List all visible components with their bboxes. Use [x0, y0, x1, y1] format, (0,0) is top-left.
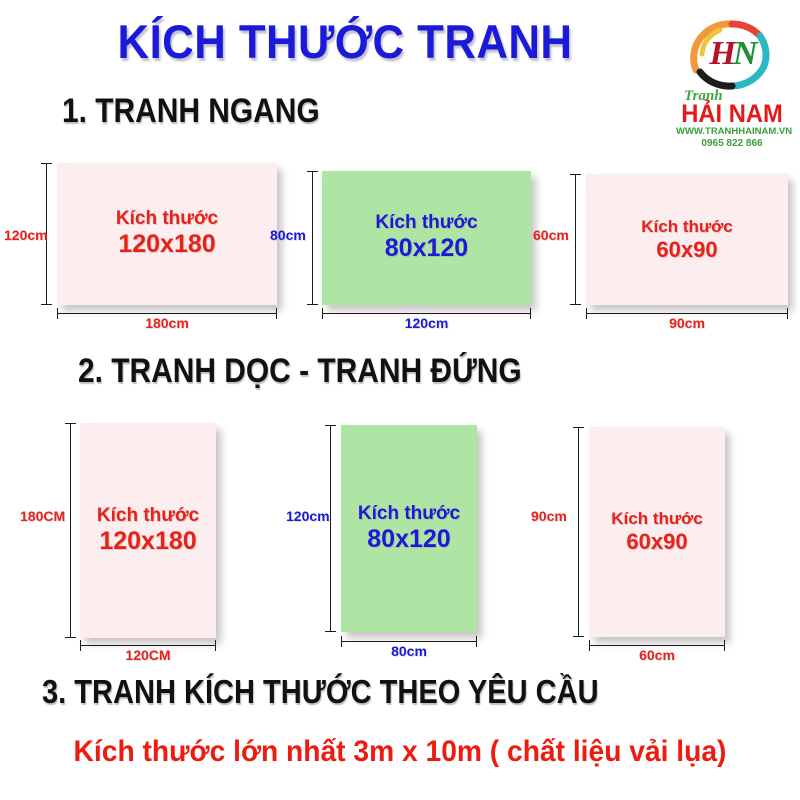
dim-line-horizontal [57, 313, 277, 314]
section-heading-tranh-ngang: 1. TRANH NGANG [62, 92, 320, 131]
section-heading-theo-yeu-cau: 3. TRANH KÍCH THƯỚC THEO YÊU CẦU [42, 673, 599, 711]
dim-label-width-120cm: 120CM [80, 647, 216, 663]
logo-monogram-n: N [733, 35, 755, 73]
dim-label-width-90cm: 90cm [586, 315, 788, 331]
dim-label-height-80cm: 80cm [270, 227, 306, 243]
logo-website: WWW.TRANHHAINAM.VN [676, 126, 788, 137]
frame-label-size: 120x180 [118, 230, 215, 260]
frame-label-size: 60x90 [626, 529, 687, 555]
frame-ngang-60x90: Kích thước 60x90 [586, 174, 788, 305]
dim-line-vertical [312, 171, 313, 305]
dim-label-width-120cm: 120cm [322, 315, 531, 331]
section-heading-tranh-doc: 2. TRANH DỌC - TRANH ĐỨNG [78, 352, 522, 391]
dim-line-vertical [578, 427, 579, 637]
frame-label-size: 80x120 [385, 234, 468, 264]
frame-label-top: Kích thước [97, 505, 199, 527]
frame-label-size: 120x180 [99, 527, 196, 557]
logo-phone: 0965 822 866 [676, 138, 788, 149]
dim-line-vertical [330, 425, 331, 632]
frame-label-top: Kích thước [375, 212, 477, 234]
frame-doc-60x90: Kích thước 60x90 [589, 427, 725, 637]
frame-label-top: Kích thước [116, 208, 218, 230]
frame-label-top: Kích thước [611, 509, 702, 529]
frame-label-size: 60x90 [656, 237, 717, 263]
dim-label-width-60cm: 60cm [589, 647, 725, 663]
logo-brand-name: HẢI NAM [679, 100, 785, 129]
dim-line-vertical [575, 174, 576, 305]
dim-label-width-80cm: 80cm [341, 643, 477, 659]
frame-doc-80x120: Kích thước 80x120 [341, 425, 477, 632]
frame-label-size: 80x120 [367, 525, 450, 555]
dim-label-width-180cm: 180cm [57, 315, 277, 331]
dim-line-horizontal [586, 313, 788, 314]
poster-canvas: KÍCH THƯỚC TRANH HN Tranh HẢI NAM WWW.TR… [0, 0, 800, 800]
page-title: KÍCH THƯỚC TRANH [24, 14, 666, 69]
logo-monogram-h: H [709, 35, 732, 73]
dim-line-horizontal [589, 645, 725, 646]
logo-monogram: HN [686, 14, 778, 94]
dim-line-horizontal [341, 641, 477, 642]
dim-line-vertical [70, 423, 71, 638]
frame-ngang-120x180: Kích thước 120x180 [57, 163, 277, 305]
dim-label-height-90cm: 90cm [531, 508, 567, 524]
brand-logo: HN Tranh HẢI NAM WWW.TRANHHAINAM.VN 0965… [672, 14, 792, 154]
frame-label-top: Kích thước [358, 503, 460, 525]
dim-label-height-180cm: 180CM [20, 508, 65, 524]
frame-label-top: Kích thước [641, 217, 732, 237]
frame-doc-120x180: Kích thước 120x180 [80, 423, 216, 638]
frame-ngang-80x120: Kích thước 80x120 [322, 171, 531, 305]
dim-label-height-120cm: 120cm [286, 508, 330, 524]
dim-label-height-120cm: 120cm [4, 227, 48, 243]
dim-line-horizontal [322, 313, 531, 314]
dim-line-horizontal [80, 645, 216, 646]
footer-note: Kích thước lớn nhất 3m x 10m ( chất liệu… [24, 735, 776, 769]
dim-label-height-60cm: 60cm [533, 227, 569, 243]
